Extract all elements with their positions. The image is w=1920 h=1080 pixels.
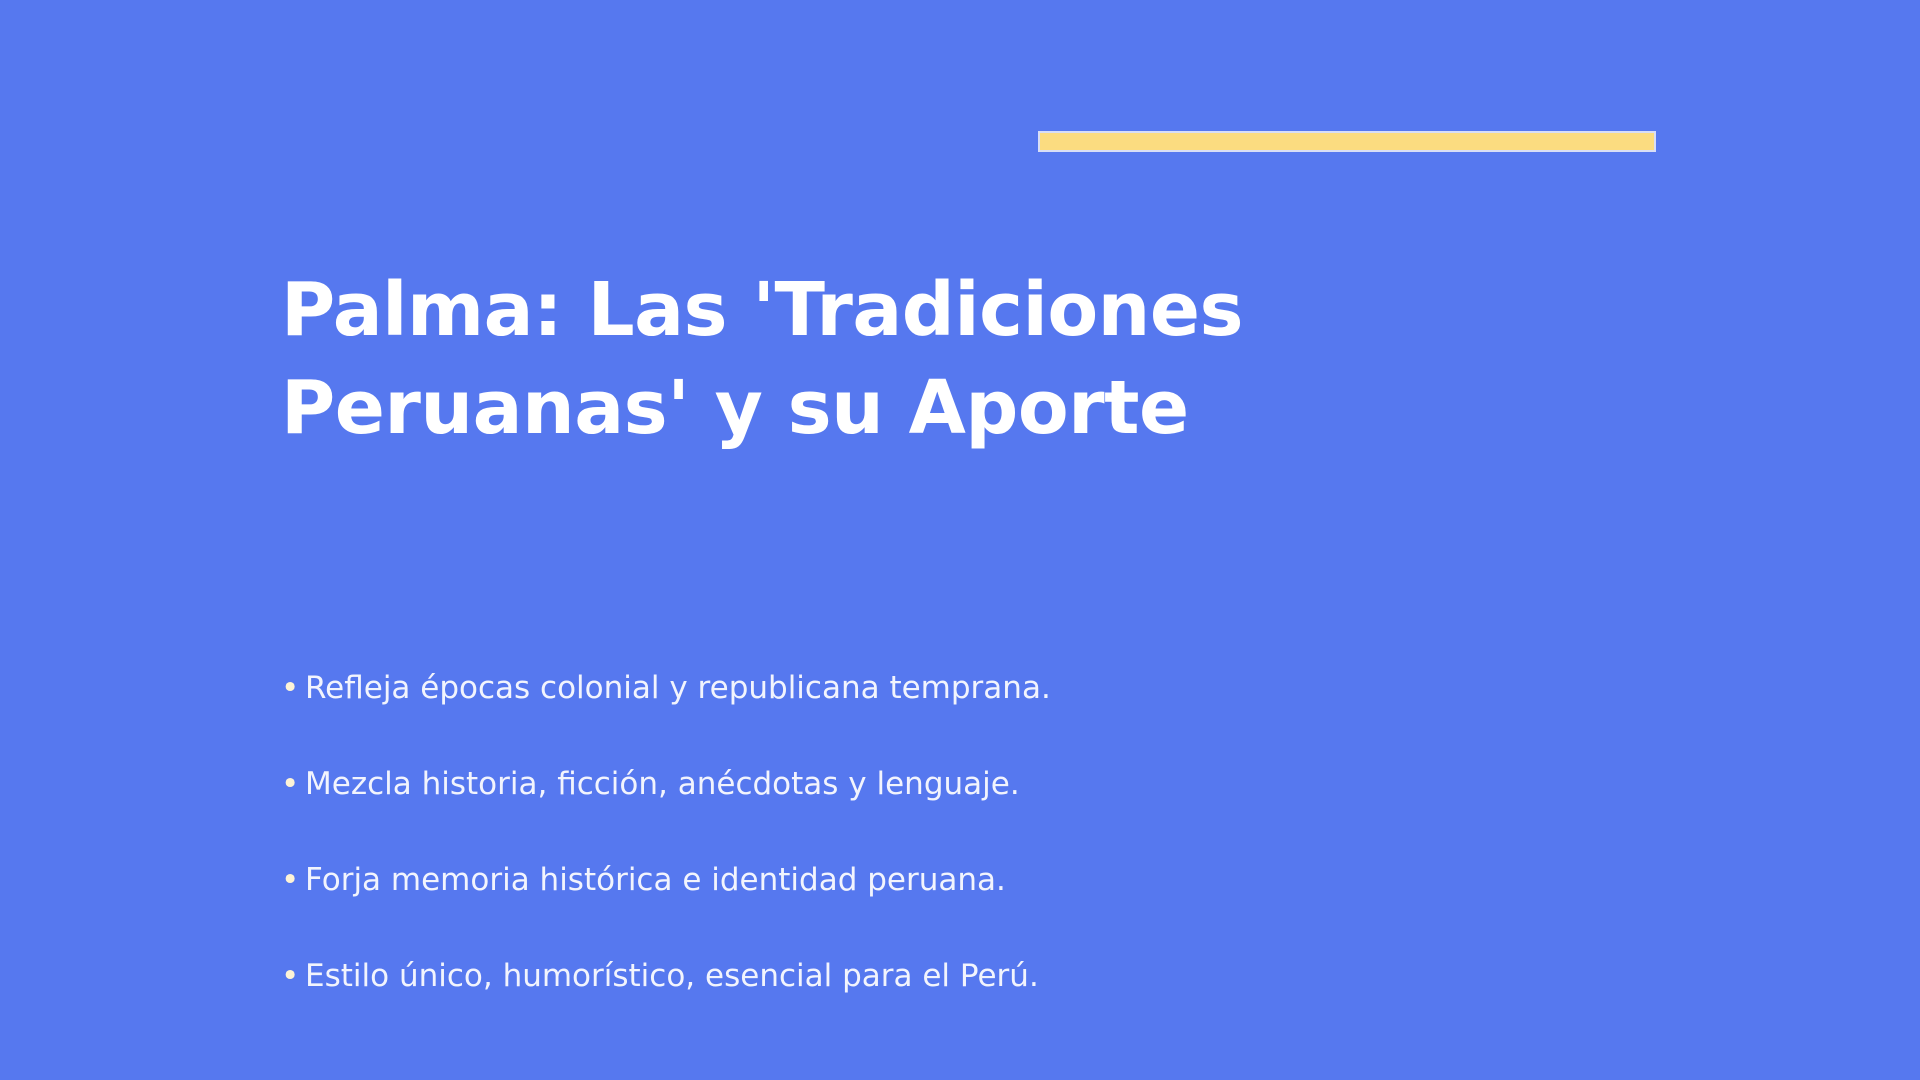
decorative-accent-bar xyxy=(1038,131,1656,152)
list-item: • Refleja épocas colonial y republicana … xyxy=(281,668,1681,764)
bullet-text: Refleja épocas colonial y republicana te… xyxy=(305,668,1681,710)
bullet-text: Forja memoria histórica e identidad peru… xyxy=(305,860,1681,902)
bullet-dot-icon: • xyxy=(281,956,305,998)
bullet-dot-icon: • xyxy=(281,860,305,902)
slide-title: Palma: Las 'Tradiciones Peruanas' y su A… xyxy=(281,262,1641,457)
bullet-text: Estilo único, humorístico, esencial para… xyxy=(305,956,1681,998)
list-item: • Estilo único, humorístico, esencial pa… xyxy=(281,956,1681,1052)
list-item: • Forja memoria histórica e identidad pe… xyxy=(281,860,1681,956)
list-item: • Mezcla historia, ficción, anécdotas y … xyxy=(281,764,1681,860)
presentation-slide: Palma: Las 'Tradiciones Peruanas' y su A… xyxy=(0,0,1920,1080)
bullet-text: Mezcla historia, ficción, anécdotas y le… xyxy=(305,764,1681,806)
bullet-list: • Refleja épocas colonial y republicana … xyxy=(281,668,1681,1052)
bullet-dot-icon: • xyxy=(281,668,305,710)
bullet-dot-icon: • xyxy=(281,764,305,806)
